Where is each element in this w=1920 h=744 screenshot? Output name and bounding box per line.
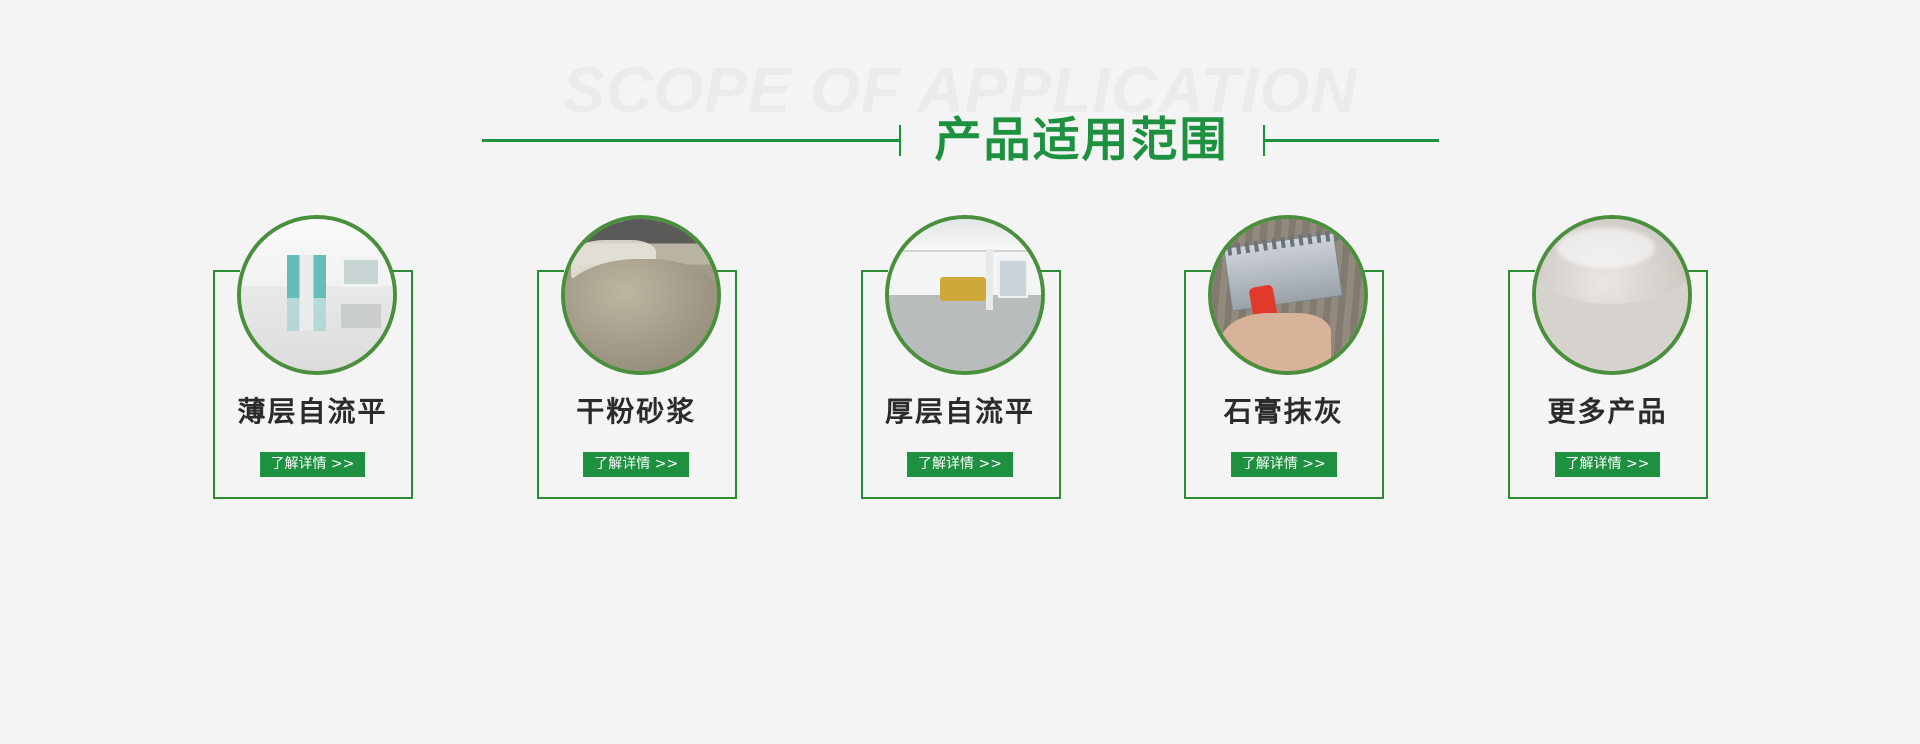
header-rule-left (482, 139, 899, 142)
application-cards: 薄层自流平 了解详情 >> 干粉砂浆 了解详情 >> (210, 215, 1710, 515)
card-title: 厚层自流平 (858, 390, 1063, 430)
title-row: 产品适用范围 (0, 104, 1920, 176)
scope-of-application-section: SCOPE OF APPLICATION 产品适用范围 薄层自流平 了解详情 >… (0, 0, 1920, 744)
dry-powder-mortar-photo (565, 219, 717, 371)
page-title: 产品适用范围 (901, 117, 1263, 164)
application-card[interactable]: 薄层自流平 了解详情 >> (210, 215, 415, 505)
header-tick-left (899, 125, 901, 156)
application-card[interactable]: 干粉砂浆 了解详情 >> (534, 215, 739, 505)
more-products-photo (1536, 219, 1688, 371)
card-title: 干粉砂浆 (534, 390, 739, 430)
card-image-circle (237, 215, 397, 375)
application-card[interactable]: 更多产品 了解详情 >> (1505, 215, 1710, 505)
card-detail-button[interactable]: 了解详情 >> (1231, 452, 1337, 477)
card-image-circle (885, 215, 1045, 375)
card-image-circle (1532, 215, 1692, 375)
card-detail-button[interactable]: 了解详情 >> (583, 452, 689, 477)
card-detail-button[interactable]: 了解详情 >> (260, 452, 366, 477)
card-image-circle (1208, 215, 1368, 375)
card-detail-button[interactable]: 了解详情 >> (1555, 452, 1661, 477)
thick-layer-self-leveling-floor-photo (889, 219, 1041, 371)
thin-layer-self-leveling-floor-photo (241, 219, 393, 371)
application-card[interactable]: 厚层自流平 了解详情 >> (858, 215, 1063, 505)
card-title: 薄层自流平 (210, 390, 415, 430)
card-detail-button[interactable]: 了解详情 >> (907, 452, 1013, 477)
gypsum-plaster-trowel-photo (1212, 219, 1364, 371)
card-image-circle (561, 215, 721, 375)
section-header: SCOPE OF APPLICATION 产品适用范围 (0, 0, 1920, 200)
card-title: 更多产品 (1505, 390, 1710, 430)
card-title: 石膏抹灰 (1181, 390, 1386, 430)
application-card[interactable]: 石膏抹灰 了解详情 >> (1181, 215, 1386, 505)
header-rule-right (1265, 139, 1439, 142)
